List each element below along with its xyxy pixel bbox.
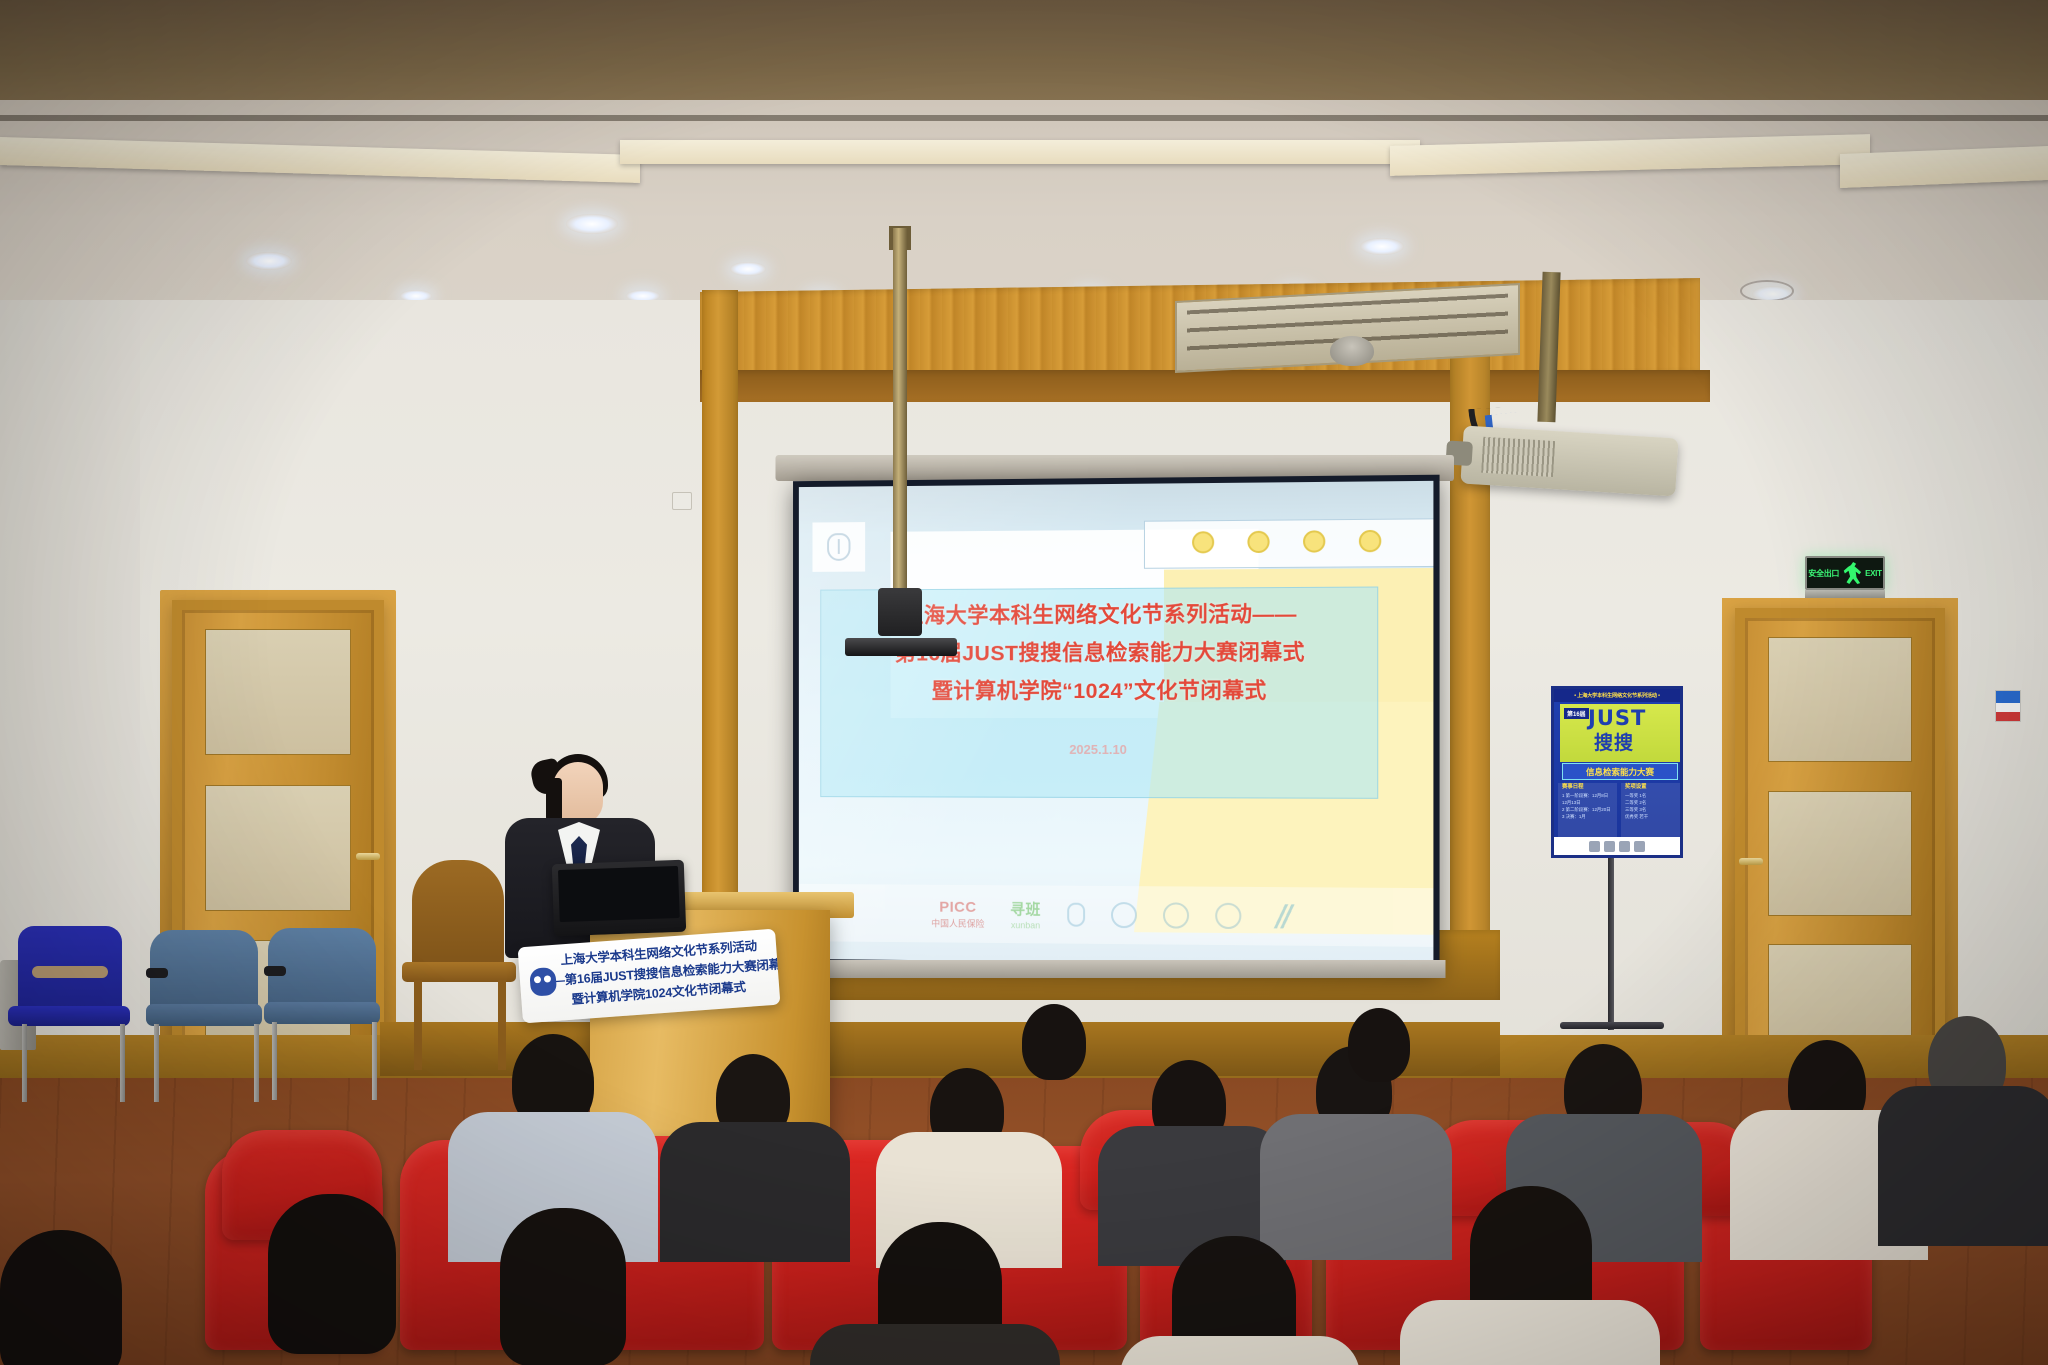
event-poster: • 上海大学本科生网络文化节系列活动 • 第16届 JUST 搜搜 信息检索能力… (1551, 686, 1683, 858)
audience-head (500, 1208, 626, 1365)
fabric-chair-1-seat[interactable] (146, 1004, 262, 1026)
poster-footer-logo-1 (1589, 841, 1600, 852)
downlight-5 (730, 262, 766, 276)
slide-title-line-3: 暨计算机学院“1024”文化节闭幕式 (828, 671, 1374, 710)
poster-brand-cn: 搜搜 (1594, 728, 1634, 755)
audience-shoulders (1878, 1086, 2048, 1246)
poster-prize-line-2: 二等奖 2名 (1625, 799, 1676, 806)
poster-column-prizes-title: 奖项设置 (1625, 784, 1647, 791)
sponsor-logo-picc: PICC 中国人民保险 (931, 898, 984, 929)
poster-schedule-line-1: 1 第一阶段赛：12月8日 12月13日 (1562, 792, 1613, 806)
projector-vent (1481, 437, 1555, 477)
slide-dot-1 (1192, 531, 1214, 553)
downlight-3 (566, 214, 618, 234)
slide-date: 2025.1.10 (828, 742, 1374, 758)
boom-crossbar (845, 638, 957, 656)
sponsor-logo-univ-a-icon (1111, 902, 1137, 928)
sponsor-logo-univ-b-icon (1162, 902, 1188, 928)
wood-side-chair[interactable] (412, 860, 504, 978)
wood-header-band-lower (700, 370, 1710, 402)
door-right[interactable] (1735, 608, 1945, 1108)
audience-shoulders (810, 1324, 1060, 1365)
exit-sign-left-label: 安全出口 (1808, 568, 1839, 579)
door-left-handle[interactable] (356, 853, 380, 860)
sponsor-logo-univ-c-icon (1215, 903, 1241, 929)
door-left-panel-top (205, 629, 351, 755)
audience-head (0, 1230, 122, 1365)
poster-footer-logo-2 (1604, 841, 1615, 852)
fabric-chair-2-arm (264, 966, 286, 976)
lecture-hall-photo: 上海大学本科生网络文化节系列活动—— 第16届JUST搜搜信息检索能力大赛闭幕式… (0, 0, 2048, 1365)
wall-socket-left[interactable] (672, 492, 692, 510)
xunban-sub-text: xunban (1011, 920, 1040, 930)
downlight-ring-1 (1740, 280, 1794, 302)
blue-chair-leg-2 (120, 1024, 125, 1102)
sponsor-logo-shu-icon (1067, 903, 1085, 927)
fabric-chair-1-leg-2 (254, 1024, 259, 1102)
slide-dot-row (1192, 530, 1381, 554)
sponsor-logo-wave-icon (1267, 904, 1295, 928)
boom-arm-rod (893, 228, 907, 628)
poster-stand-base (1560, 1022, 1664, 1029)
audience-shoulders (1400, 1300, 1660, 1365)
downlight-1 (246, 252, 292, 270)
blue-chair-leg-1 (22, 1024, 27, 1102)
poster-stand-pole (1608, 858, 1614, 1030)
poster-column-schedule-title: 赛事日程 (1562, 784, 1584, 791)
door-right-handle[interactable] (1739, 858, 1763, 865)
poster-column-schedule: 赛事日程 1 第一阶段赛：12月8日 12月13日 2 第二阶段赛：12月20日… (1558, 783, 1617, 841)
poster-headline-block: 第16届 JUST 搜搜 (1560, 704, 1680, 762)
just-mascot-icon (529, 967, 557, 997)
slide-dot-4 (1359, 530, 1381, 552)
poster-edition-badge: 第16届 (1564, 708, 1589, 719)
wood-column-right (1450, 300, 1490, 980)
projection-screen: 上海大学本科生网络文化节系列活动—— 第16届JUST搜搜信息检索能力大赛闭幕式… (793, 475, 1440, 972)
door-right-panel-top (1768, 637, 1912, 762)
audience-head (268, 1194, 396, 1354)
xunban-main-text: 寻班 (1010, 898, 1041, 919)
fabric-chair-2-seat[interactable] (264, 1002, 380, 1024)
blue-plastic-chair-seat[interactable] (8, 1006, 130, 1026)
fabric-chair-2-leg-2 (372, 1022, 377, 1100)
wood-side-chair-seat[interactable] (402, 962, 516, 982)
poster-column-prizes: 奖项设置 一等奖 1名 二等奖 2名 三等奖 3名 优秀奖 若干 (1621, 783, 1680, 841)
podium-monitor (552, 860, 686, 937)
slide-dot-2 (1247, 531, 1269, 553)
wood-side-chair-leg-2 (498, 980, 506, 1070)
poster-footer-logo-4 (1634, 841, 1645, 852)
slide-dot-3 (1303, 530, 1325, 552)
poster-prize-line-1: 一等奖 1名 (1625, 792, 1676, 799)
poster-schedule-line-2: 2 第二阶段赛：12月20日 (1562, 806, 1613, 813)
wood-side-chair-leg-1 (414, 980, 422, 1070)
poster-top-strip: • 上海大学本科生网络文化节系列活动 • (1554, 689, 1680, 702)
slide-sponsor-bar: PICC 中国人民保险 寻班 xunban (799, 884, 1434, 947)
poster-footer-logos (1554, 837, 1680, 855)
screen-bottom-bar (785, 960, 1446, 978)
poster-footer-logo-3 (1619, 841, 1630, 852)
poster-brand-en: JUST (1588, 706, 1646, 730)
downlight-9 (1360, 238, 1404, 255)
door-right-panel-mid (1768, 791, 1912, 916)
audience-head (1022, 1004, 1086, 1080)
boom-camera-head (878, 588, 922, 636)
poster-subtitle: 信息检索能力大赛 (1562, 763, 1678, 780)
exit-sign: 安全出口 EXIT (1805, 556, 1885, 590)
wall-notice-card (1995, 690, 2021, 722)
slide-university-emblem-icon (812, 522, 865, 572)
door-left-panel-mid (205, 785, 351, 911)
fabric-chair-1-leg-1 (154, 1024, 159, 1102)
fabric-chair-2-leg-1 (272, 1022, 277, 1100)
ceiling-speaker (1330, 336, 1374, 366)
running-man-icon (1842, 562, 1862, 584)
exit-sign-right-label: EXIT (1865, 569, 1882, 578)
poster-prize-line-4: 优秀奖 若干 (1625, 813, 1676, 820)
door-left[interactable] (172, 600, 384, 1105)
audience-head (1348, 1008, 1410, 1082)
wood-column-left (702, 290, 738, 970)
slot-light-2 (620, 140, 1420, 164)
fabric-chair-1-arm (146, 968, 168, 978)
picc-main-text: PICC (939, 898, 976, 915)
audience-shoulders (1260, 1114, 1452, 1260)
audience-shoulders (660, 1122, 850, 1262)
audience-shoulders (1120, 1336, 1360, 1365)
blue-plastic-chair-back[interactable] (18, 926, 122, 1018)
ceiling-edge-shadow (0, 115, 2048, 121)
sponsor-logo-xunban: 寻班 xunban (1010, 898, 1041, 930)
poster-schedule-line-3: 3 决赛：1月 (1562, 813, 1613, 820)
picc-sub-text: 中国人民保险 (931, 916, 984, 929)
poster-prize-line-3: 三等奖 3名 (1625, 806, 1676, 813)
